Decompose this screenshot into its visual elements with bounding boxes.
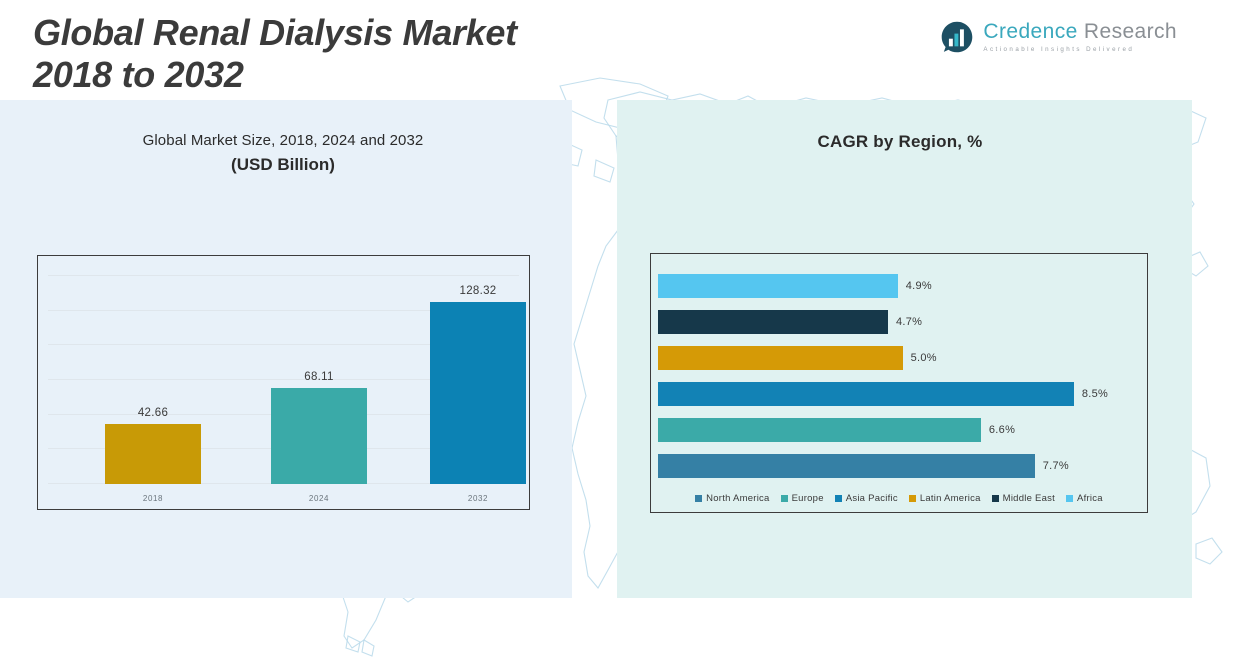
bar-value-label: 4.9% <box>906 280 932 292</box>
horizontal-bar <box>658 346 903 370</box>
legend-label: Latin America <box>920 493 981 504</box>
column-bar <box>271 388 367 484</box>
column-category-label: 2032 <box>430 494 526 503</box>
legend-label: Asia Pacific <box>846 493 898 504</box>
brand-name-secondary: Research <box>1078 20 1177 43</box>
legend-label: North America <box>706 493 769 504</box>
gridline <box>48 275 519 276</box>
column-chart-plot-area: 42.66201868.112024128.322032 <box>38 256 529 509</box>
cagr-by-region-bar-chart: 4.9%4.7%5.0%8.5%6.6%7.7% North AmericaEu… <box>650 253 1148 513</box>
bar-row: 8.5% <box>658 382 1141 406</box>
legend-swatch <box>909 495 916 502</box>
legend-swatch <box>781 495 788 502</box>
column-value-label: 42.66 <box>138 407 168 419</box>
column-bar <box>105 424 201 484</box>
legend-item[interactable]: North America <box>695 493 769 504</box>
brand-tagline: Actionable Insights Delivered <box>983 46 1177 53</box>
legend-item[interactable]: Africa <box>1066 493 1103 504</box>
legend-label: Africa <box>1077 493 1103 504</box>
bar-row: 6.6% <box>658 418 1141 442</box>
horizontal-bar <box>658 274 898 298</box>
market-size-column-chart: 42.66201868.112024128.322032 <box>37 255 530 510</box>
bar-row: 5.0% <box>658 346 1141 370</box>
column-value-label: 68.11 <box>304 371 333 383</box>
brand-name-primary: Credence <box>983 20 1077 43</box>
credence-bar-chart-bubble-icon <box>940 20 974 54</box>
legend-label: Europe <box>792 493 824 504</box>
bar-row: 7.7% <box>658 454 1141 478</box>
horizontal-bar <box>658 310 888 334</box>
column-bar-group: 42.66 <box>105 407 201 484</box>
bar-row: 4.7% <box>658 310 1141 334</box>
legend-swatch <box>992 495 999 502</box>
page-title: Global Renal Dialysis Market 2018 to 203… <box>33 12 517 96</box>
bar-chart-legend: North AmericaEuropeAsia PacificLatin Ame… <box>659 493 1139 504</box>
left-chart-title-line1: Global Market Size, 2018, 2024 and 2032 <box>38 132 528 149</box>
legend-label: Middle East <box>1003 493 1055 504</box>
brand-logo: Credence Research Actionable Insights De… <box>940 20 1177 54</box>
horizontal-bar <box>658 454 1035 478</box>
bar-row: 4.9% <box>658 274 1141 298</box>
column-category-label: 2024 <box>271 494 367 503</box>
column-category-label: 2018 <box>105 494 201 503</box>
legend-item[interactable]: Europe <box>781 493 824 504</box>
header: Global Renal Dialysis Market 2018 to 203… <box>0 0 1237 100</box>
horizontal-bar <box>658 418 981 442</box>
brand-name: Credence Research <box>983 21 1177 43</box>
left-chart-heading: Global Market Size, 2018, 2024 and 2032 … <box>38 132 528 175</box>
right-chart-heading: CAGR by Region, % <box>650 132 1150 152</box>
column-bar-group: 68.11 <box>271 371 367 484</box>
legend-swatch <box>835 495 842 502</box>
column-bar-group: 128.32 <box>430 285 526 484</box>
column-value-label: 128.32 <box>460 285 497 297</box>
legend-item[interactable]: Asia Pacific <box>835 493 898 504</box>
left-chart-title-line2: (USD Billion) <box>38 155 528 175</box>
bar-value-label: 4.7% <box>896 316 922 328</box>
bar-value-label: 5.0% <box>911 352 937 364</box>
bar-value-label: 7.7% <box>1043 460 1069 472</box>
brand-text: Credence Research Actionable Insights De… <box>983 21 1177 53</box>
column-bar <box>430 302 526 484</box>
legend-swatch <box>1066 495 1073 502</box>
bar-value-label: 6.6% <box>989 424 1015 436</box>
right-chart-title: CAGR by Region, % <box>650 132 1150 152</box>
bar-value-label: 8.5% <box>1082 388 1108 400</box>
horizontal-bar <box>658 382 1074 406</box>
bar-chart-plot-area: 4.9%4.7%5.0%8.5%6.6%7.7% <box>651 254 1147 512</box>
legend-swatch <box>695 495 702 502</box>
legend-item[interactable]: Middle East <box>992 493 1055 504</box>
legend-item[interactable]: Latin America <box>909 493 981 504</box>
